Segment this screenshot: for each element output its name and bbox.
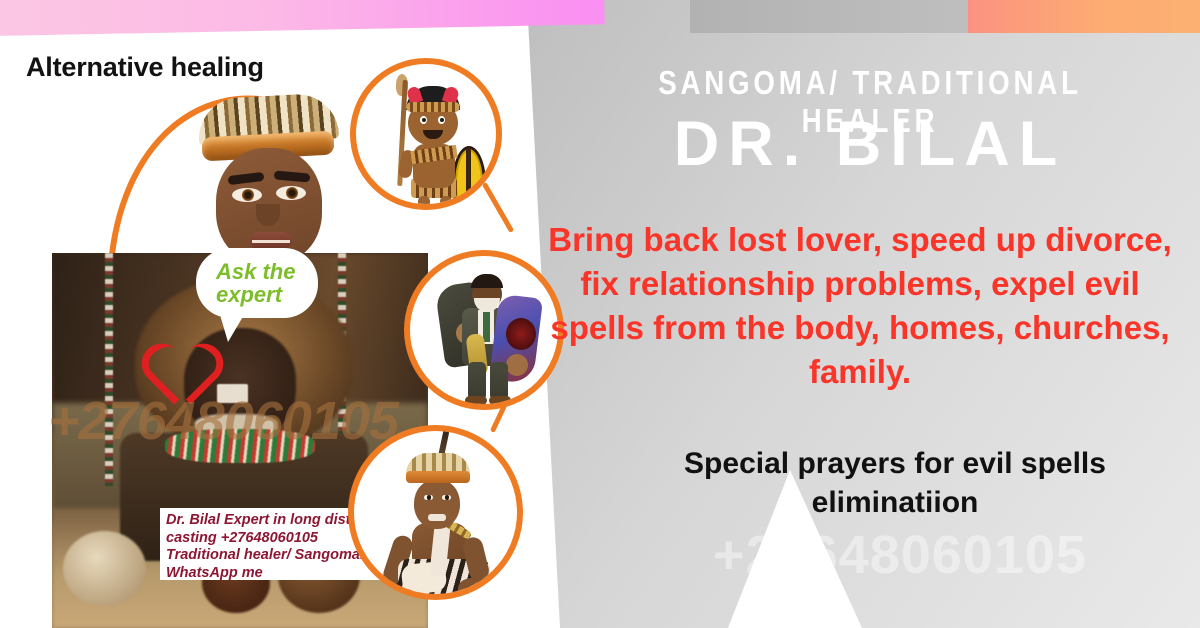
phone-watermark: +27648060105 — [600, 524, 1200, 586]
page-title: Alternative healing — [26, 52, 264, 83]
crouch-pupil-left — [427, 495, 431, 500]
trouser-leg-left — [468, 362, 486, 400]
iris-left — [242, 189, 254, 201]
circle-crouching-warrior — [348, 425, 523, 600]
crouch-mouth — [428, 514, 446, 521]
iris-right — [286, 187, 298, 199]
teeth — [252, 240, 290, 243]
top-orange-strip — [968, 0, 1200, 33]
shoe-left — [465, 396, 487, 405]
shoe-right — [489, 396, 511, 405]
necktie — [483, 312, 490, 342]
healer-name: DR. BILAL — [560, 108, 1180, 180]
warrior-pupil-left — [422, 118, 426, 122]
warrior-leg-right — [440, 196, 452, 210]
speech-bubble-text: Ask the expert — [204, 260, 310, 306]
top-pink-strip — [0, 0, 605, 36]
crouch-head — [414, 479, 460, 529]
connector-line-2 — [482, 182, 514, 233]
poster-canvas: Alternative healing — [0, 0, 1200, 628]
speech-bubble: Ask the expert — [196, 248, 318, 318]
crouch-pupil-right — [445, 495, 449, 500]
top-gray-strip — [690, 0, 980, 33]
services-text: Bring back lost lover, speed up divorce,… — [540, 218, 1180, 394]
circle-cartoon-zulu-warrior — [350, 58, 502, 210]
trouser-leg-right — [490, 362, 508, 400]
warrior-pupil-right — [440, 118, 444, 122]
shield-stick — [466, 148, 471, 210]
warrior-leg-left — [418, 196, 430, 210]
photo-pot-1 — [63, 531, 146, 606]
round-shield-icon — [506, 318, 536, 350]
healer-hair — [471, 274, 503, 288]
special-offer-text: Special prayers for evil spells eliminat… — [600, 444, 1190, 522]
brown-bag-lower — [506, 354, 528, 376]
crouch-crown-band — [406, 471, 470, 483]
warrior-headband — [406, 102, 460, 112]
